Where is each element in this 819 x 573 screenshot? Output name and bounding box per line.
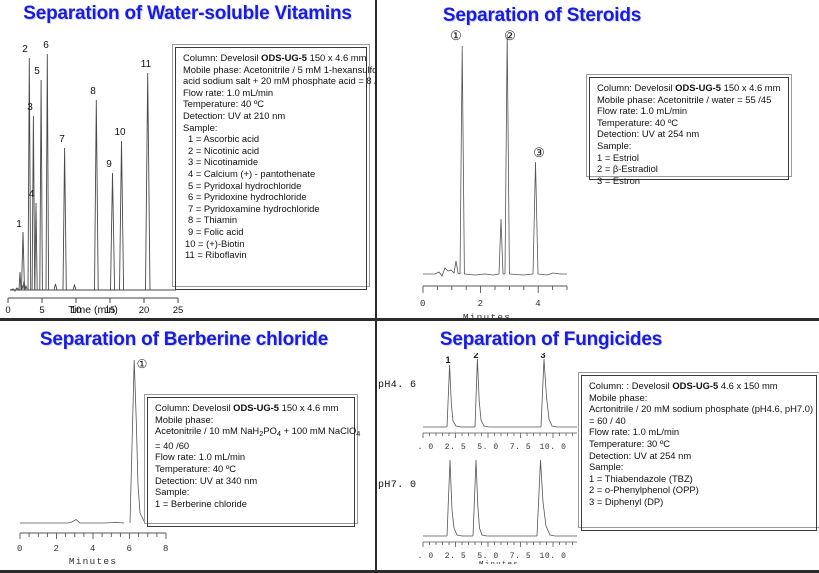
panel-steroids: Separation of Steroids ① ② ③ xyxy=(377,0,819,318)
steroids-chromatogram: ① ② ③ 0 2 4 Minutes xyxy=(415,24,605,318)
info-line: 3 = Diphenyl (DP) xyxy=(589,496,810,508)
vitamins-axis-title: Time (min) xyxy=(0,304,186,316)
svg-text:7: 7 xyxy=(59,134,65,145)
info-line: 1 = Estriol xyxy=(597,152,782,164)
berberine-info-box: Column: Develosil ODS-UG-5 150 x 4.6 mm … xyxy=(144,394,358,524)
svg-text:4: 4 xyxy=(90,544,96,554)
info-line: Sample: xyxy=(589,461,810,473)
svg-text:11: 11 xyxy=(141,59,152,70)
panel-vitamins: Separation of Water-soluble Vitamins xyxy=(0,0,375,318)
svg-text:①: ① xyxy=(137,357,148,371)
panel-fungicides: Separation of Fungicides pH4. 6 pH7. 0 1… xyxy=(377,321,819,570)
svg-text:1: 1 xyxy=(445,355,450,365)
info-line: Sample: xyxy=(155,486,348,498)
svg-text:Minutes: Minutes xyxy=(479,561,519,564)
svg-text:5. 0: 5. 0 xyxy=(477,443,499,452)
info-line: 5 = Pyridoxal hydrochloride xyxy=(183,180,360,192)
info-line: 3 = Estron xyxy=(597,175,782,187)
info-line: Temperature: 40 ºC xyxy=(155,463,348,475)
svg-text:2: 2 xyxy=(22,44,28,55)
ph-label-lower: pH7. 0 xyxy=(378,480,416,491)
info-line: 9 = Folic acid xyxy=(183,226,360,238)
svg-text:4: 4 xyxy=(29,189,35,200)
info-line: Flow rate: 1.0 mL/min xyxy=(183,87,360,99)
vitamins-chromatogram: 1 2 3 4 5 6 7 8 9 10 11 0 5 10 xyxy=(0,18,190,313)
svg-text:2. 5: 2. 5 xyxy=(445,443,467,452)
info-line: 7 = Pyridoxamine hydrochloride xyxy=(183,203,360,215)
svg-text:10. 0: 10. 0 xyxy=(539,552,566,561)
info-line: 2 = Nicotinic acid xyxy=(183,145,360,157)
info-line: 1 = Berberine chloride xyxy=(155,498,348,510)
svg-text:③: ③ xyxy=(533,145,545,160)
info-line: 6 = Pyridoxine hydrochloride xyxy=(183,191,360,203)
info-line: 3 = Nicotinamide xyxy=(183,156,360,168)
info-line: Mobile phase: xyxy=(155,414,348,426)
fungicides-chromatogram-ph70: 0. 0 2. 5 5. 0 7. 5 10. 0 Minutes xyxy=(419,454,587,564)
page-title-fungicides: Separation of Fungicides xyxy=(377,329,725,351)
svg-text:①: ① xyxy=(450,28,462,43)
info-line: Detection: UV at 210 nm xyxy=(183,110,360,122)
info-line: Mobile phase: xyxy=(589,392,810,404)
info-line: 8 = Thiamin xyxy=(183,214,360,226)
info-line: Column: Develosil ODS-UG-5 150 x 4.6 mm xyxy=(597,82,782,94)
info-line: Sample: xyxy=(183,122,360,134)
info-line: 1 = Thiabendazole (TBZ) xyxy=(589,473,810,485)
info-line: Temperature: 40 ºC xyxy=(183,98,360,110)
info-line: 1 = Ascorbic acid xyxy=(183,133,360,145)
info-line: Detection: UV at 340 nm xyxy=(155,475,348,487)
info-line: = 40 /60 xyxy=(155,440,348,452)
svg-text:4: 4 xyxy=(535,299,541,309)
svg-text:1: 1 xyxy=(16,219,22,230)
info-line: Temperature: 30 ºC xyxy=(589,438,810,450)
info-line: = 60 / 40 xyxy=(589,415,810,427)
info-line: 10 = (+)-Biotin xyxy=(183,238,360,250)
svg-text:3: 3 xyxy=(27,102,33,113)
info-line: Column: : Develosil ODS-UG-5 4.6 x 150 m… xyxy=(589,380,810,392)
svg-text:Minutes: Minutes xyxy=(69,556,117,567)
svg-text:0: 0 xyxy=(420,299,426,309)
info-line: Detection: UV at 254 nm xyxy=(597,128,782,140)
svg-text:5. 0: 5. 0 xyxy=(477,552,499,561)
svg-text:0. 0: 0. 0 xyxy=(419,552,434,561)
svg-text:6: 6 xyxy=(126,544,132,554)
svg-text:2. 5: 2. 5 xyxy=(445,552,467,561)
svg-text:3: 3 xyxy=(540,353,545,360)
svg-text:2: 2 xyxy=(473,353,478,360)
svg-text:Minutes: Minutes xyxy=(463,312,511,318)
info-line: Temperature: 40 ºC xyxy=(597,117,782,129)
info-line: Flow rate: 1.0 mL/min xyxy=(155,451,348,463)
info-line: 11 = Riboflavin xyxy=(183,249,360,261)
info-line: Detection: UV at 254 nm xyxy=(589,450,810,462)
svg-text:6: 6 xyxy=(43,40,49,51)
info-line: Mobile phase: Acetonitrile / 5 mM 1-hexa… xyxy=(183,64,360,76)
fungicides-info-box: Column: : Develosil ODS-UG-5 4.6 x 150 m… xyxy=(578,372,819,528)
info-line: Column: Develosil ODS-UG-5 150 x 4.6 mm xyxy=(155,402,348,414)
info-line: Flow rate: 1.0 mL/min xyxy=(597,105,782,117)
info-line: 2 = o-Phenylphenol (OPP) xyxy=(589,484,810,496)
svg-text:10. 0: 10. 0 xyxy=(539,443,566,452)
fungicides-chromatogram-ph46: 1 2 3 0. 0 2. 5 xyxy=(419,353,587,453)
svg-text:2: 2 xyxy=(53,544,59,554)
svg-text:0: 0 xyxy=(17,544,23,554)
info-line: 4 = Calcium (+) - pantothenate xyxy=(183,168,360,180)
info-line: Acrtonitrile / 20 mM sodium phosphate (p… xyxy=(589,403,810,415)
svg-text:②: ② xyxy=(504,28,516,43)
svg-text:8: 8 xyxy=(90,86,96,97)
svg-text:7. 5: 7. 5 xyxy=(510,443,532,452)
svg-text:9: 9 xyxy=(106,159,112,170)
page-title-berberine: Separation of Berberine chloride xyxy=(0,329,368,351)
svg-text:2: 2 xyxy=(478,299,484,309)
svg-text:10: 10 xyxy=(114,127,126,138)
svg-text:0. 0: 0. 0 xyxy=(419,443,434,452)
svg-text:7. 5: 7. 5 xyxy=(510,552,532,561)
svg-text:8: 8 xyxy=(163,544,169,554)
poster-page: Separation of Water-soluble Vitamins xyxy=(0,0,819,573)
info-line: Sample: xyxy=(597,140,782,152)
info-line: acid sodium salt + 20 mM phosphate acid … xyxy=(183,75,360,87)
info-line: Column: Develosil ODS-UG-5 150 x 4.6 mm xyxy=(183,52,360,64)
info-line: Flow rate: 1.0 mL/min xyxy=(589,426,810,438)
info-line: Acetonitrile / 10 mM NaH2PO4 + 100 mM Na… xyxy=(155,425,348,440)
panel-berberine: Separation of Berberine chloride ① xyxy=(0,321,375,570)
info-line: Mobile phase: Acetonitrile / water = 55 … xyxy=(597,94,782,106)
svg-text:5: 5 xyxy=(34,66,40,77)
info-line: 2 = β-Estradiol xyxy=(597,163,782,175)
ph-label-upper: pH4. 6 xyxy=(378,380,416,391)
vitamins-info-box: Column: Develosil ODS-UG-5 150 x 4.6 mm … xyxy=(172,44,370,287)
steroids-info-box: Column: Develosil ODS-UG-5 150 x 4.6 mm … xyxy=(586,74,792,177)
